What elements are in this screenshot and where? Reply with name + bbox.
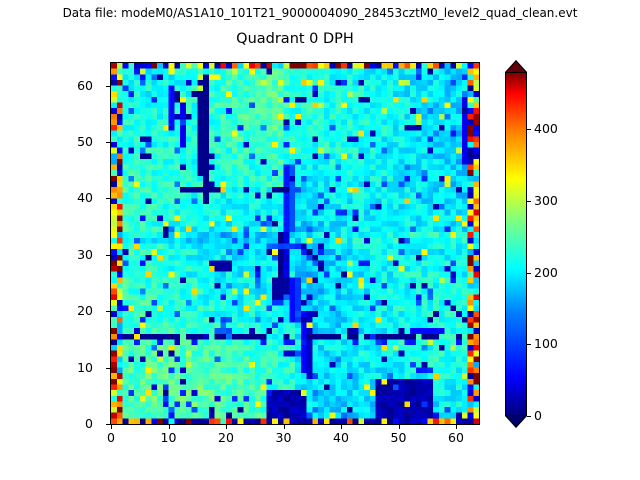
colorbar-tick-label: 200 bbox=[534, 266, 558, 280]
x-tick-mark bbox=[111, 425, 112, 429]
x-tick-mark bbox=[456, 425, 457, 429]
y-tick-label: 30 bbox=[0, 248, 100, 262]
x-tick-mark bbox=[169, 425, 170, 429]
y-tick-label: 0 bbox=[0, 417, 100, 431]
colorbar-gradient bbox=[505, 72, 527, 416]
page-title: Quadrant 0 DPH bbox=[110, 31, 480, 48]
data-file-label: Data file: modeM0/AS1A10_101T21_90000040… bbox=[0, 6, 640, 20]
colorbar-tick-mark bbox=[527, 344, 531, 345]
y-tick-label: 60 bbox=[0, 79, 100, 93]
figure-canvas: Data file: modeM0/AS1A10_101T21_90000040… bbox=[0, 0, 640, 480]
heatmap-axes bbox=[110, 62, 480, 425]
x-tick-label: 60 bbox=[448, 431, 464, 445]
colorbar-tick-mark bbox=[527, 201, 531, 202]
x-tick-mark bbox=[341, 425, 342, 429]
colorbar-tick-label: 400 bbox=[534, 122, 558, 136]
y-tick-mark bbox=[106, 424, 110, 425]
colorbar-tick-label: 100 bbox=[534, 337, 558, 351]
colorbar-tick-mark bbox=[527, 129, 531, 130]
detector-heatmap-image bbox=[111, 63, 479, 424]
x-tick-mark bbox=[399, 425, 400, 429]
x-tick-label: 40 bbox=[333, 431, 349, 445]
y-tick-mark bbox=[106, 86, 110, 87]
x-tick-label: 50 bbox=[391, 431, 407, 445]
colorbar-tick-label: 0 bbox=[534, 409, 542, 423]
y-tick-mark bbox=[106, 255, 110, 256]
y-tick-mark bbox=[106, 368, 110, 369]
colorbar-under-arrow-outline-icon bbox=[505, 415, 527, 428]
x-tick-mark bbox=[226, 425, 227, 429]
y-tick-mark bbox=[106, 311, 110, 312]
colorbar-tick-mark bbox=[527, 416, 531, 417]
y-tick-label: 50 bbox=[0, 135, 100, 149]
x-tick-label: 20 bbox=[218, 431, 234, 445]
x-tick-mark bbox=[284, 425, 285, 429]
y-tick-label: 40 bbox=[0, 191, 100, 205]
colorbar-tick-label: 300 bbox=[534, 194, 558, 208]
y-tick-mark bbox=[106, 142, 110, 143]
y-tick-label: 20 bbox=[0, 304, 100, 318]
y-tick-label: 10 bbox=[0, 361, 100, 375]
colorbar-over-arrow-outline-icon bbox=[505, 60, 527, 73]
x-tick-label: 30 bbox=[276, 431, 292, 445]
x-tick-label: 10 bbox=[161, 431, 177, 445]
y-tick-mark bbox=[106, 198, 110, 199]
colorbar-tick-mark bbox=[527, 273, 531, 274]
colorbar: 0100200300400 bbox=[505, 60, 527, 428]
x-tick-label: 0 bbox=[107, 431, 115, 445]
